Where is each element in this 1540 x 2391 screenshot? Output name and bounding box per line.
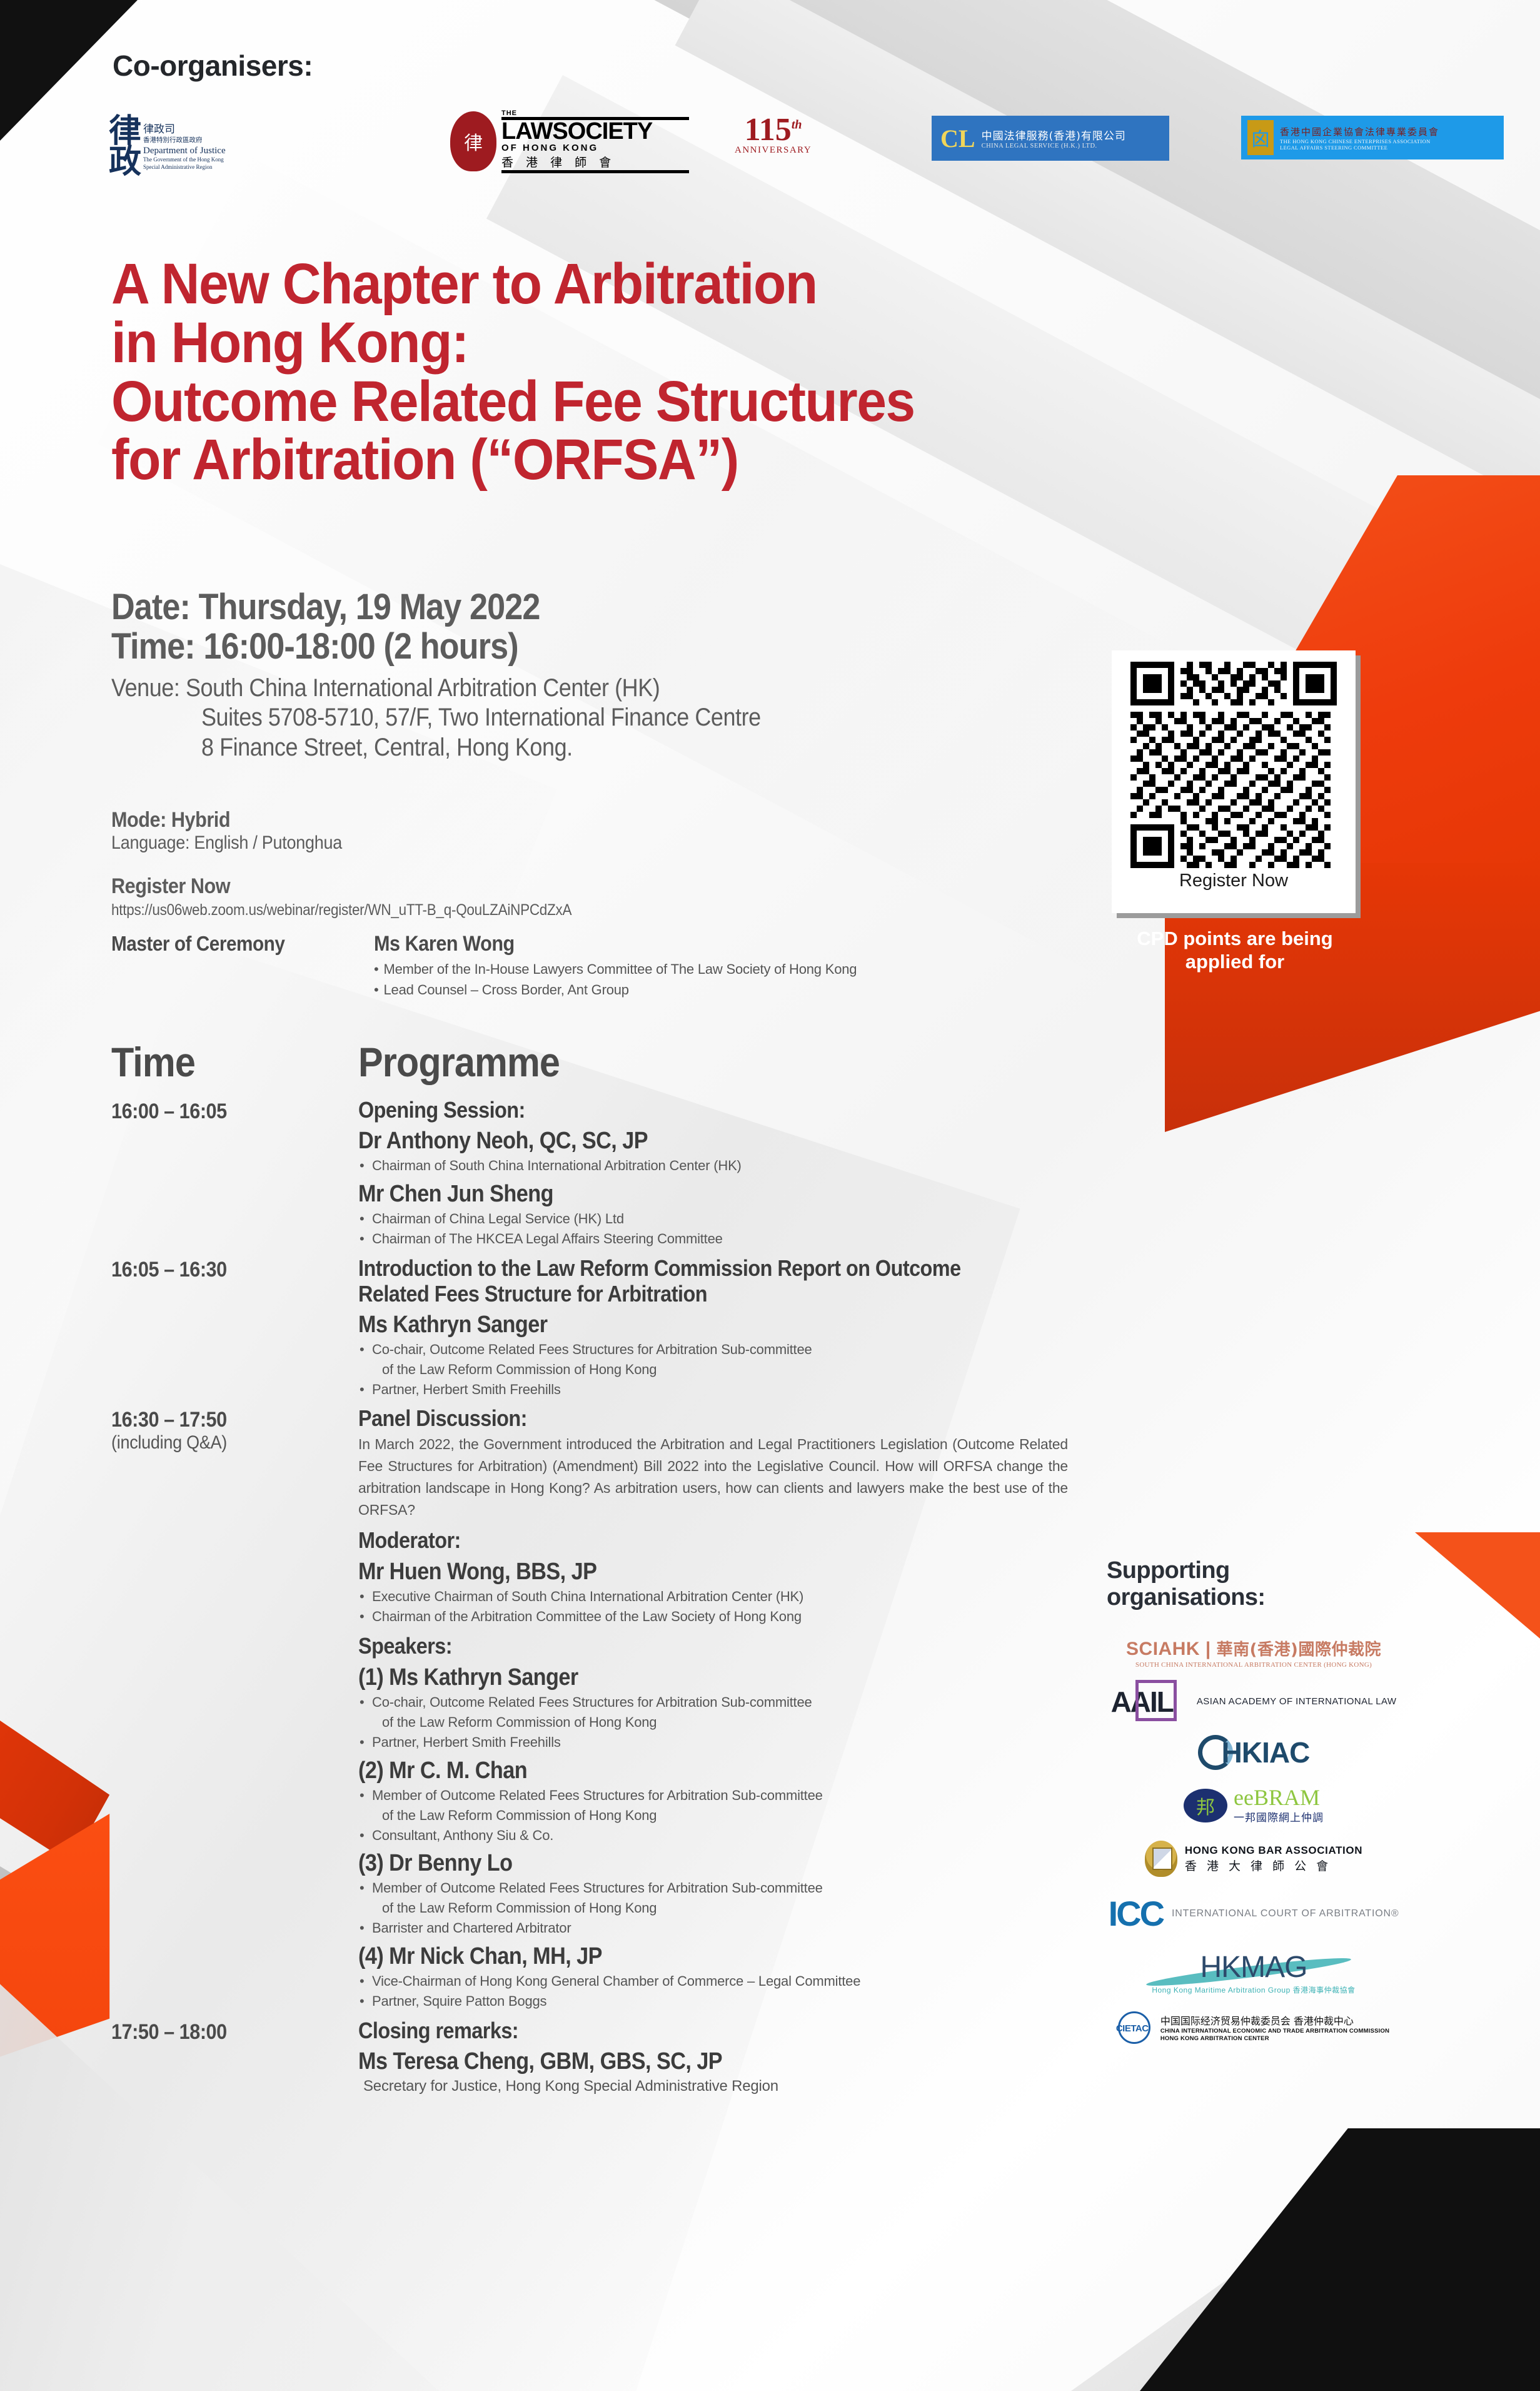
law-society-the: THE [501,109,689,117]
icc-word: ICC [1109,1893,1163,1934]
law-society-sub: OF HONG KONG [501,143,689,153]
event-time: Time: 16:00-18:00 (2 hours) [111,627,984,667]
icc-full-name: INTERNATIONAL COURT OF ARBITRATION® [1172,1908,1399,1920]
programme-person-name: Ms Kathryn Sanger [358,1312,997,1338]
title-line-1: A New Chapter to Arbitration [111,255,1193,314]
bullet: Barrister and Chartered Arbitrator [358,1918,1068,1938]
doj-en-sub1: The Government of the Hong Kong [143,156,226,163]
cls-en: CHINA LEGAL SERVICE (H.K.) LTD. [982,143,1126,149]
doj-en-title: Department of Justice [143,145,226,157]
co-organisers-label: Co-organisers: [113,49,313,83]
cls-mark-icon: CL [940,124,975,153]
programme-session-title: Panel Discussion: [358,1405,997,1431]
scia-hk-mark: HK [1172,1639,1200,1659]
register-heading: Register Now [111,874,571,899]
supporting-logo-list: SCIAHK | 華南(香港)國際仲裁院 SOUTH CHINA INTERNA… [1107,1637,1401,2044]
bullet: Co-chair, Outcome Related Fees Structure… [358,1692,1068,1712]
hkba-cn: 香 港 大 律 師 公 會 [1185,1857,1362,1874]
law-society-rule-bottom [501,170,689,173]
supporting-organisations: Supporting organisations: SCIAHK | 華南(香港… [1107,1557,1401,2044]
speaker-name: (1) Ms Kathryn Sanger [358,1664,997,1691]
cietac-en2: HONG KONG ARBITRATION CENTER [1160,2035,1389,2043]
programme-session-title: Closing remarks: [358,2018,997,2043]
ebram-cn: 一邦國際網上仲調 [1234,1809,1324,1824]
programme-person-bullets: Chairman of China Legal Service (HK) Ltd… [358,1209,1068,1249]
cpd-note: CPD points are being applied for [1100,927,1369,973]
qr-code-icon[interactable] [1130,662,1337,868]
bullet: Partner, Herbert Smith Freehills [358,1732,1068,1752]
logo-china-legal-service: CL 中國法律服務(香港)有限公司 CHINA LEGAL SERVICE (H… [932,116,1169,161]
programme-person-name: Dr Anthony Neoh, QC, SC, JP [358,1128,997,1155]
bullet: Chairman of South China International Ar… [358,1156,1068,1176]
panel-description: In March 2022, the Government introduced… [358,1433,1068,1521]
hkba-en: HONG KONG BAR ASSOCIATION [1185,1844,1362,1857]
logo-aail: AAIL ASIAN ACADEMY OF INTERNATIONAL LAW [1107,1685,1401,1719]
qr-card[interactable]: Register Now [1112,650,1356,913]
programme-row: 17:50 – 18:00 Closing remarks: Ms Teresa… [111,2018,1068,2095]
bullet: Partner, Squire Patton Boggs [358,1991,1068,2011]
programme-person-name: Ms Teresa Cheng, GBM, GBS, SC, JP [358,2048,997,2075]
cietac-cn: 中国国际经济贸易仲裁委员会 香港仲裁中心 [1160,2013,1389,2028]
supporting-heading-line-2: organisations: [1107,1584,1401,1611]
bullet-continuation: of the Law Reform Commission of Hong Kon… [358,1898,1068,1918]
programme-person-bullets: Chairman of South China International Ar… [358,1156,1068,1176]
programme-row: 16:00 – 16:05 Opening Session: Dr Anthon… [111,1097,1068,1253]
aail-box-decor [1135,1680,1177,1721]
law-society-anniversary-badge: 115th ANNIVERSARY [735,116,812,156]
register-block: Register Now https://us06web.zoom.us/web… [111,874,623,919]
event-language: Language: English / Putonghua [111,832,342,854]
right-small-orange-triangle-decor [1415,1532,1540,1639]
law-society-seal-icon: 律 [450,111,496,171]
programme-header-programme: Programme [358,1038,560,1086]
logo-hkiac: HKIAC [1107,1735,1401,1770]
logo-cietac-hong-kong: 中国国际经济贸易仲裁委员会 香港仲裁中心 CHINA INTERNATIONAL… [1107,2011,1401,2044]
co-organisers-logo-row: 律政 律政司 香港特別行政區政府 Department of Justice T… [109,116,1391,185]
hkba-crest-icon [1145,1841,1177,1877]
page-title: A New Chapter to Arbitration in Hong Kon… [111,255,1193,490]
cietac-en1: CHINA INTERNATIONAL ECONOMIC AND TRADE A… [1160,2028,1389,2035]
programme-person-name: Mr Chen Jun Sheng [358,1181,997,1208]
event-venue-line-3: 8 Finance Street, Central, Hong Kong. [111,733,984,762]
programme-row: 16:05 – 16:30 Introduction to the Law Re… [111,1255,1068,1403]
moderator-bullets: Executive Chairman of South China Intern… [358,1587,1068,1627]
scia-cn: 華南(香港)國際仲裁院 [1217,1640,1381,1659]
event-date: Date: Thursday, 19 May 2022 [111,588,984,627]
event-venue-line-2: Suites 5708-5710, 57/F, Two Internationa… [111,703,984,732]
bullet: Executive Chairman of South China Intern… [358,1587,1068,1607]
logo-icc-arbitration: ICC INTERNATIONAL COURT OF ARBITRATION® [1107,1893,1401,1934]
programme-row-time: 17:50 – 18:00 [111,2020,334,2045]
left-cube-grey-decor [0,1832,56,1945]
hkcea-en2: LEGAL AFFAIRS STEERING COMMITTEE [1280,144,1439,151]
mc-name: Ms Karen Wong [374,932,808,956]
speaker-name: (2) Mr C. M. Chan [358,1757,997,1784]
bullet: Member of Outcome Related Fees Structure… [358,1878,1068,1898]
programme-table: Time Programme 16:00 – 16:05 Opening Ses… [111,1038,1068,2098]
qr-panel[interactable]: Register Now [1112,650,1356,913]
scia-full-name: SOUTH CHINA INTERNATIONAL ARBITRATION CE… [1126,1661,1381,1669]
bottom-right-grey-wedge-decor [1071,2203,1334,2391]
programme-row-time: 16:30 – 17:50 [111,1408,334,1432]
mc-bullet: Member of the In-House Lawyers Committee… [374,959,857,979]
logo-law-society-of-hong-kong: 律 THE LAWSOCIETY OF HONG KONG 香 港 律 師 會 [450,109,689,173]
hkcea-en1: THE HONG KONG CHINESE ENTERPRISES ASSOCI… [1280,138,1439,144]
event-poster: Co-organisers: 律政 律政司 香港特別行政區政府 Departme… [0,0,1540,2391]
speaker-bullets: Member of Outcome Related Fees Structure… [358,1878,1068,1938]
speaker-bullets: Vice-Chairman of Hong Kong General Chamb… [358,1971,1068,2011]
ebram-oval-icon: 邦 [1184,1789,1227,1822]
hkcea-cn: 香港中國企業協會法律專業委員會 [1280,125,1439,138]
bullet: Co-chair, Outcome Related Fees Structure… [358,1340,1068,1360]
event-mode: Mode: Hybrid [111,808,342,832]
programme-row-time-sub: (including Q&A) [111,1432,334,1453]
logo-hong-kong-bar-association: HONG KONG BAR ASSOCIATION 香 港 大 律 師 公 會 [1107,1841,1401,1877]
programme-header-time: Time [111,1038,334,1086]
moderator-label: Moderator: [358,1527,997,1554]
hkiac-word: HKIAC [1222,1736,1310,1769]
mc-bullets: Member of the In-House Lawyers Committee… [374,959,857,1000]
hkmag-word: HKMAG [1152,1950,1355,1984]
hkcea-mark-icon: 囟 [1247,120,1274,155]
supporting-heading-line-1: Supporting [1107,1557,1401,1584]
title-line-2: in Hong Kong: [111,314,1193,373]
doj-seal-icon: 律政 [109,113,138,181]
programme-person-role: Secretary for Justice, Hong Kong Special… [358,2078,1068,2095]
programme-session-title: Introduction to the Law Reform Commissio… [358,1255,997,1307]
law-society-cn: 香 港 律 師 會 [501,153,689,170]
cls-cn: 中國法律服務(香港)有限公司 [982,127,1126,143]
hkmag-sub-en: Hong Kong Maritime Arbitration Group [1152,1986,1290,1994]
anniversary-number: 115 [745,112,792,148]
law-society-main: LAWSOCIETY [501,120,689,143]
speakers-label: Speakers: [358,1633,997,1659]
mc-bullet: Lead Counsel – Cross Border, Ant Group [374,979,857,1000]
bullet: Partner, Herbert Smith Freehills [358,1380,1068,1400]
speaker-name: (3) Dr Benny Lo [358,1850,997,1877]
event-venue-line-1: Venue: South China International Arbitra… [111,674,984,703]
moderator-name: Mr Huen Wong, BBS, JP [358,1559,997,1585]
speaker-name: (4) Mr Nick Chan, MH, JP [358,1943,997,1970]
programme-session-title: Opening Session: [358,1097,997,1123]
logo-hkmag: HKMAG Hong Kong Maritime Arbitration Gro… [1107,1950,1401,1995]
bullet-continuation: of the Law Reform Commission of Hong Kon… [358,1806,1068,1826]
bottom-right-black-wedge-decor [1140,2128,1540,2391]
bullet: Chairman of The HKCEA Legal Affairs Stee… [358,1229,1068,1249]
doj-cn-sub: 香港特別行政區政府 [143,136,226,144]
logo-ebram: 邦 eeBRAM 一邦國際網上仲調 [1107,1786,1401,1824]
mc-label: Master of Ceremony [111,932,348,1000]
register-url-link[interactable]: https://us06web.zoom.us/webinar/register… [111,901,571,919]
title-line-4: for Arbitration (“ORFSA”) [111,431,1193,490]
bullet: Chairman of China Legal Service (HK) Ltd [358,1209,1068,1229]
logo-department-of-justice: 律政 律政司 香港特別行政區政府 Department of Justice T… [109,113,226,181]
scia-en: SCIA [1126,1639,1172,1659]
bullet: Consultant, Anthony Siu & Co. [358,1826,1068,1846]
bullet-continuation: of the Law Reform Commission of Hong Kon… [358,1712,1068,1732]
speaker-bullets: Member of Outcome Related Fees Structure… [358,1786,1068,1846]
event-mode-block: Mode: Hybrid Language: English / Putongh… [111,808,368,854]
bullet: Chairman of the Arbitration Committee of… [358,1607,1068,1627]
programme-row: 16:30 – 17:50 (including Q&A) Panel Disc… [111,1405,1068,2014]
cietac-globe-icon [1118,2011,1150,2044]
anniversary-word: ANNIVERSARY [735,145,812,156]
programme-person-bullets: Co-chair, Outcome Related Fees Structure… [358,1340,1068,1400]
aail-full-name: ASIAN ACADEMY OF INTERNATIONAL LAW [1197,1696,1397,1708]
logo-scia-hk: SCIAHK | 華南(香港)國際仲裁院 SOUTH CHINA INTERNA… [1107,1637,1401,1669]
logo-hkcea-legal-affairs: 囟 香港中國企業協會法律專業委員會 THE HONG KONG CHINESE … [1241,116,1504,159]
speaker-bullets: Co-chair, Outcome Related Fees Structure… [358,1692,1068,1752]
ebram-en: eBRAM [1244,1785,1320,1810]
bullet: Member of Outcome Related Fees Structure… [358,1786,1068,1806]
master-of-ceremony-block: Master of Ceremony Ms Karen Wong Member … [111,932,857,1000]
programme-row-time: 16:00 – 16:05 [111,1099,334,1124]
title-line-3: Outcome Related Fee Structures [111,373,1193,432]
programme-header-row: Time Programme [111,1038,1068,1086]
event-details: Date: Thursday, 19 May 2022 Time: 16:00-… [111,588,1080,762]
bullet: Vice-Chairman of Hong Kong General Chamb… [358,1971,1068,1991]
doj-en-sub2: Special Administrative Region [143,164,226,171]
qr-caption: Register Now [1179,871,1288,891]
hkmag-sub-cn: 香港海事仲裁協會 [1293,1986,1356,1994]
bullet-continuation: of the Law Reform Commission of Hong Kon… [358,1360,1068,1380]
programme-row-time: 16:05 – 16:30 [111,1258,334,1282]
doj-cn-title: 律政司 [143,123,226,136]
anniversary-ordinal: th [792,118,802,132]
